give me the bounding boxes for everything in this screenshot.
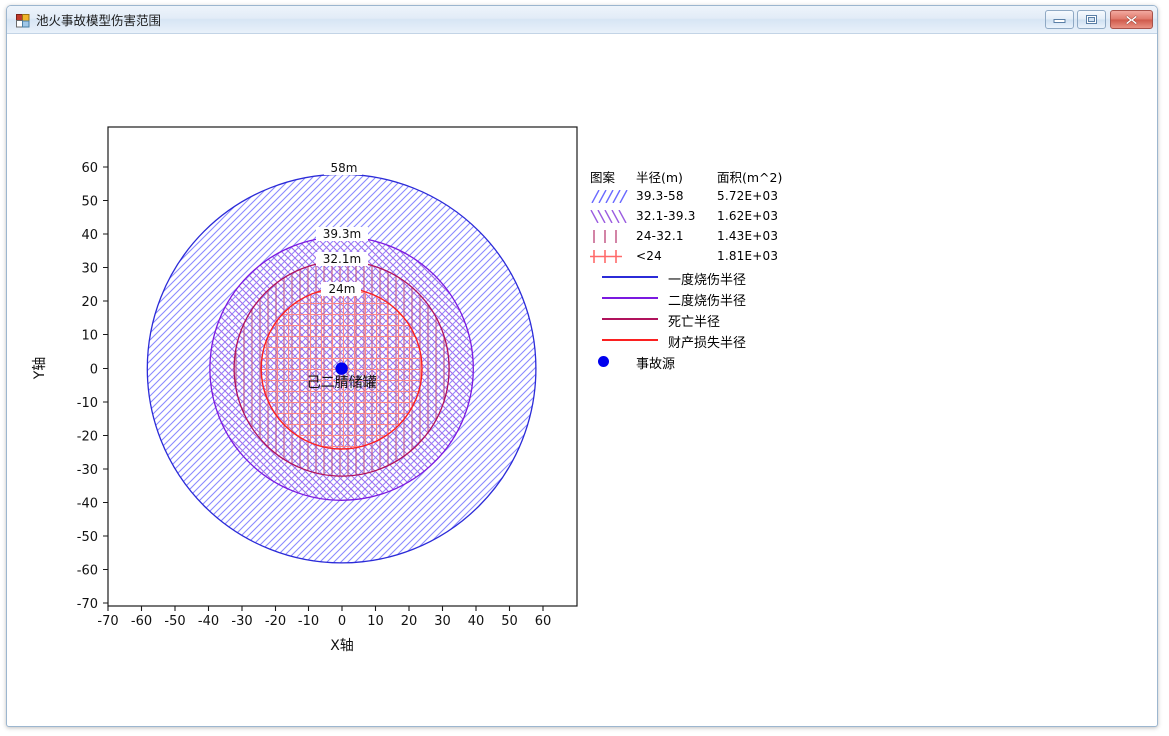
legend-range: 24-32.1 bbox=[636, 229, 684, 243]
legend-range: <24 bbox=[636, 249, 662, 263]
source-label: 己二腈储罐 bbox=[307, 375, 377, 391]
close-icon bbox=[1111, 11, 1152, 28]
y-tick-label: 50 bbox=[81, 195, 98, 210]
y-tick-label: -30 bbox=[77, 463, 98, 478]
x-tick-label: -10 bbox=[298, 614, 319, 629]
x-tick-label: -70 bbox=[97, 614, 118, 629]
x-axis-title: X轴 bbox=[330, 638, 354, 654]
line-swatch-first-degree-burn bbox=[602, 276, 658, 278]
legend-point-label: 事故源 bbox=[636, 353, 675, 372]
x-tick-label: 60 bbox=[535, 614, 552, 629]
x-tick-label: -60 bbox=[131, 614, 152, 629]
x-tick-label: 50 bbox=[501, 614, 518, 629]
hatch-forward-slash-icon bbox=[590, 190, 628, 203]
maximize-icon bbox=[1078, 11, 1105, 28]
x-tick-label: 0 bbox=[338, 614, 346, 629]
x-tick-label: 20 bbox=[401, 614, 418, 629]
radius-label-58: 58m bbox=[331, 161, 358, 175]
legend-header-row: 图案 半径(m) 面积(m^2) bbox=[590, 167, 820, 187]
legend-area: 1.62E+03 bbox=[717, 209, 778, 223]
legend-line-row: 二度烧伤半径 bbox=[590, 288, 820, 309]
hatch-vertical-icon bbox=[590, 230, 628, 243]
y-axis-ticks bbox=[103, 167, 108, 603]
x-tick-label: -20 bbox=[265, 614, 286, 629]
source-dot-icon bbox=[598, 356, 609, 367]
window-client-area: 58m 39.3m 32.1m 24m 己二腈储罐 bbox=[8, 34, 1156, 725]
minimize-icon bbox=[1046, 11, 1073, 28]
y-tick-label: -50 bbox=[77, 530, 98, 545]
hatch-back-slash-icon bbox=[590, 210, 628, 223]
legend-pattern-row: 32.1-39.3 1.62E+03 bbox=[590, 207, 820, 227]
y-tick-label: -70 bbox=[77, 597, 98, 612]
legend-header-area: 面积(m^2) bbox=[717, 167, 782, 186]
y-tick-label: 20 bbox=[81, 295, 98, 310]
y-tick-label: 10 bbox=[81, 329, 98, 344]
pool-fire-damage-plot: 58m 39.3m 32.1m 24m 己二腈储罐 bbox=[8, 34, 1156, 725]
x-tick-label: -30 bbox=[231, 614, 252, 629]
plot-canvas: 58m 39.3m 32.1m 24m 己二腈储罐 bbox=[8, 34, 1156, 725]
line-swatch-fatality bbox=[602, 318, 658, 320]
legend-area: 1.43E+03 bbox=[717, 229, 778, 243]
legend-range: 32.1-39.3 bbox=[636, 209, 696, 223]
y-tick-label: 60 bbox=[81, 161, 98, 176]
y-tick-label: -20 bbox=[77, 430, 98, 445]
source-point-icon bbox=[335, 362, 347, 374]
legend-line-row: 财产损失半径 bbox=[590, 330, 820, 351]
line-swatch-property-loss bbox=[602, 339, 658, 341]
x-tick-label: 10 bbox=[367, 614, 384, 629]
legend-pattern-row: 39.3-58 5.72E+03 bbox=[590, 187, 820, 207]
radius-label-321: 32.1m bbox=[323, 252, 361, 266]
legend-area: 5.72E+03 bbox=[717, 189, 778, 203]
close-button[interactable] bbox=[1110, 10, 1153, 29]
y-tick-label: -10 bbox=[77, 396, 98, 411]
hatch-cross-icon bbox=[590, 250, 628, 263]
y-axis-title: Y轴 bbox=[32, 357, 48, 381]
legend-point-row: 事故源 bbox=[590, 351, 820, 373]
chart-legend: 图案 半径(m) 面积(m^2) 39.3-58 5.72E+03 bbox=[590, 167, 820, 373]
legend-pattern-row: <24 1.81E+03 bbox=[590, 247, 820, 267]
y-tick-label: 30 bbox=[81, 262, 98, 277]
legend-line-label: 一度烧伤半径 bbox=[668, 269, 746, 288]
legend-line-label: 二度烧伤半径 bbox=[668, 290, 746, 309]
x-axis-ticks bbox=[108, 606, 543, 611]
legend-header-radius: 半径(m) bbox=[636, 167, 683, 186]
x-tick-label: 40 bbox=[468, 614, 485, 629]
x-tick-label: 30 bbox=[434, 614, 451, 629]
y-tick-label: -40 bbox=[77, 497, 98, 512]
legend-header-pattern: 图案 bbox=[590, 167, 615, 186]
legend-pattern-row: 24-32.1 1.43E+03 bbox=[590, 227, 820, 247]
y-tick-label: 0 bbox=[90, 363, 98, 378]
x-tick-label: -40 bbox=[198, 614, 219, 629]
minimize-button[interactable] bbox=[1045, 10, 1074, 29]
winforms-app-icon bbox=[16, 13, 30, 27]
legend-line-label: 死亡半径 bbox=[668, 311, 720, 330]
line-swatch-second-degree-burn bbox=[602, 297, 658, 299]
y-tick-label: 40 bbox=[81, 228, 98, 243]
window-title: 池火事故模型伤害范围 bbox=[36, 11, 161, 31]
title-bar[interactable]: 池火事故模型伤害范围 bbox=[7, 6, 1157, 34]
y-tick-label: -60 bbox=[77, 564, 98, 579]
legend-range: 39.3-58 bbox=[636, 189, 684, 203]
y-axis-tick-labels: 60 50 40 30 20 10 0 -10 -20 -30 -40 -50 … bbox=[77, 161, 98, 612]
maximize-button[interactable] bbox=[1077, 10, 1106, 29]
x-axis-tick-labels: -70 -60 -50 -40 -30 -20 -10 0 10 20 30 4… bbox=[97, 614, 551, 629]
legend-area: 1.81E+03 bbox=[717, 249, 778, 263]
legend-line-row: 一度烧伤半径 bbox=[590, 267, 820, 288]
legend-line-label: 财产损失半径 bbox=[668, 332, 746, 351]
x-tick-label: -50 bbox=[164, 614, 185, 629]
legend-line-row: 死亡半径 bbox=[590, 309, 820, 330]
application-window: 池火事故模型伤害范围 bbox=[6, 5, 1158, 727]
radius-label-24: 24m bbox=[329, 282, 356, 296]
radius-label-393: 39.3m bbox=[323, 227, 361, 241]
